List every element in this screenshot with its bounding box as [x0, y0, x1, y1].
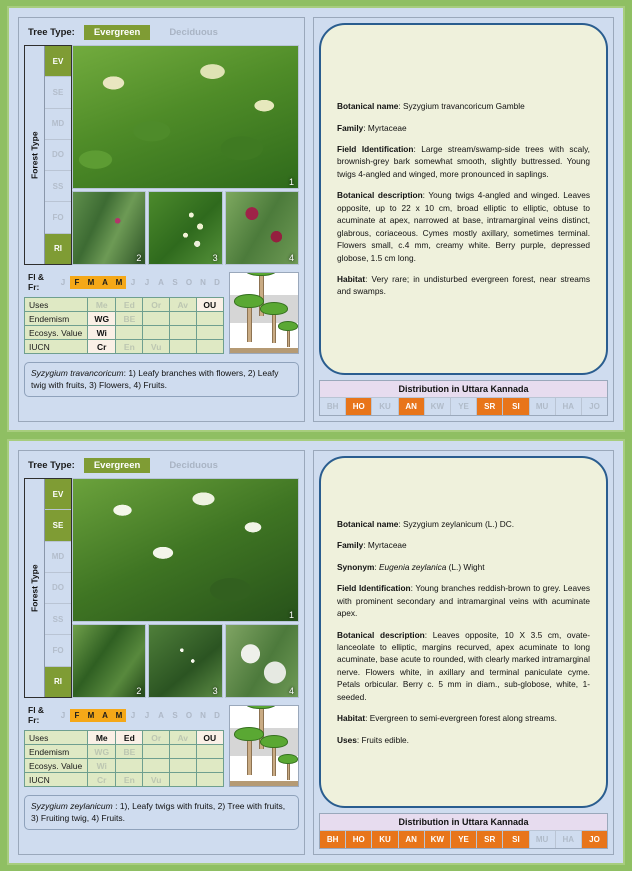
description-text: Young twigs 4-angled and winged. Leaves … [337, 190, 590, 262]
attribute-name: Uses [25, 731, 88, 745]
distribution-bh[interactable]: BH [320, 398, 346, 415]
description-text: Eugenia zeylanica (L.) Wight [379, 562, 485, 572]
synonym-binomial: Eugenia zeylanica [379, 562, 446, 572]
description-label: Botanical name [337, 519, 398, 529]
tree-type-option-evergreen[interactable]: Evergreen [84, 25, 150, 40]
attribute-name: Uses [25, 298, 88, 312]
media-column: Tree Type:EvergreenDeciduousForest TypeE… [18, 17, 305, 422]
attribute-value[interactable]: OU [196, 298, 223, 312]
tree-type-label: Tree Type: [28, 27, 75, 38]
attribute-value[interactable]: OU [196, 731, 223, 745]
attribute-value-empty [169, 312, 196, 326]
attribute-value[interactable]: BE [116, 745, 143, 759]
photo-3[interactable]: 3 [148, 191, 222, 265]
photo-number: 1 [289, 177, 294, 187]
tree-silhouette [278, 754, 298, 780]
attribute-value-empty [143, 759, 170, 773]
tree-height-profile [229, 705, 299, 787]
forest-type-codes: EVSEMDDOSSFORI [44, 46, 71, 264]
tree-type-option-deciduous[interactable]: Deciduous [159, 25, 228, 40]
distribution-mu[interactable]: MU [530, 398, 556, 415]
photo-number: 4 [289, 686, 294, 696]
attribute-value-empty [196, 340, 223, 354]
table-row: Ecosys. ValueWi [25, 326, 224, 340]
description-label: Habitat [337, 713, 365, 723]
distribution-an[interactable]: AN [399, 831, 425, 848]
forest-type-ri[interactable]: RI [45, 667, 71, 697]
attribute-value[interactable]: Wi [88, 326, 116, 340]
attribute-value-empty [143, 326, 170, 340]
month-cell[interactable]: D [210, 276, 224, 289]
photo-gallery: 1234 [72, 478, 299, 698]
attribute-value-empty [196, 773, 223, 787]
attribute-value[interactable]: Wi [88, 759, 116, 773]
attribute-value[interactable]: BE [116, 312, 143, 326]
description-box: Botanical name: Syzygium travancoricum G… [319, 23, 608, 375]
description-paragraph: Family: Myrtaceae [337, 539, 590, 551]
species-card-2: Tree Type:EvergreenDeciduousForest TypeE… [7, 439, 625, 865]
distribution-ku[interactable]: KU [372, 831, 398, 848]
distribution-ye[interactable]: YE [451, 831, 477, 848]
ground-line [230, 781, 298, 786]
phenology-row: Fl & Fr:JFMAMJJASOND [24, 705, 224, 725]
forest-type-fo[interactable]: FO [45, 202, 71, 233]
table-row: EndemismWGBE [25, 312, 224, 326]
photo-4[interactable]: 4 [225, 624, 299, 698]
forest-type-ev[interactable]: EV [45, 46, 71, 77]
distribution-box: Distribution in Uttara KannadaBHHOKUANKW… [319, 813, 608, 849]
description-label: Habitat [337, 274, 365, 284]
attribute-name: Ecosys. Value [25, 759, 88, 773]
forest-type-codes: EVSEMDDOSSFORI [44, 479, 71, 697]
month-cell[interactable]: S [168, 709, 182, 722]
month-cell[interactable]: D [210, 709, 224, 722]
phenology-label: Fl & Fr: [28, 705, 50, 725]
description-text: Myrtaceae [368, 540, 407, 550]
month-cell[interactable]: J [126, 276, 140, 289]
field-guide-page: Tree Type:EvergreenDeciduousForest TypeE… [0, 0, 632, 871]
distribution-title: Distribution in Uttara Kannada [320, 814, 607, 831]
distribution-ha[interactable]: HA [556, 831, 582, 848]
attribute-value-empty [169, 759, 196, 773]
photo-2[interactable]: 2 [72, 191, 146, 265]
distribution-codes: BHHOKUANKWYESRSIMUHAJO [320, 398, 607, 415]
forest-type-strip: Forest TypeEVSEMDDOSSFORI [24, 45, 72, 265]
month-cell[interactable]: J [140, 276, 154, 289]
photo-number: 4 [289, 253, 294, 263]
description-label: Botanical description [337, 630, 425, 640]
distribution-ye[interactable]: YE [451, 398, 477, 415]
tree-type-selector[interactable]: Tree Type:EvergreenDeciduous [24, 24, 299, 41]
attribute-value[interactable]: En [116, 773, 143, 787]
tree-type-label: Tree Type: [28, 460, 75, 471]
forest-type-do[interactable]: DO [45, 140, 71, 171]
table-row: IUCNCrEnVu [25, 340, 224, 354]
month-cell[interactable]: S [168, 276, 182, 289]
forest-type-fo[interactable]: FO [45, 635, 71, 666]
attribute-value[interactable]: Me [88, 298, 116, 312]
traits-section: Fl & Fr:JFMAMJJASONDUsesMeEdOrAvOUEndemi… [24, 272, 299, 354]
attribute-value-empty [116, 759, 143, 773]
description-label: Synonym [337, 562, 374, 572]
description-box: Botanical name: Syzygium zeylanicum (L.)… [319, 456, 608, 808]
description-text: Syzygium zeylanicum (L.) DC. [403, 519, 514, 529]
attribute-value-empty [143, 312, 170, 326]
ground-line [230, 348, 298, 353]
figure-caption: Syzygium zeylanicum : 1), Leafy twigs wi… [24, 795, 299, 830]
description-paragraph: Habitat: Very rare; in undisturbed everg… [337, 273, 590, 298]
figure-caption: Syzygium travancoricum: 1) Leafy branche… [24, 362, 299, 397]
photo-sub-row: 234 [72, 624, 299, 698]
forest-type-title: Forest Type [25, 479, 44, 697]
photo-sub-row: 234 [72, 191, 299, 265]
month-cell[interactable]: J [126, 709, 140, 722]
photo-number: 2 [136, 253, 141, 263]
month-cell[interactable]: J [140, 709, 154, 722]
photo-2[interactable]: 2 [72, 624, 146, 698]
description-paragraph: Uses: Fruits edible. [337, 734, 590, 746]
description-label: Botanical description [337, 190, 423, 200]
description-label: Field Identification [337, 144, 413, 154]
attribute-value[interactable]: Av [169, 731, 196, 745]
month-strip: JFMAMJJASOND [56, 709, 224, 722]
photo-number: 1 [289, 610, 294, 620]
month-cell[interactable]: N [196, 709, 210, 722]
table-row: UsesMeEdOrAvOU [25, 298, 224, 312]
tree-type-option-deciduous[interactable]: Deciduous [159, 458, 228, 473]
phenology-label: Fl & Fr: [28, 272, 50, 292]
traits-left: Fl & Fr:JFMAMJJASONDUsesMeEdOrAvOUEndemi… [24, 705, 224, 787]
phenology-row: Fl & Fr:JFMAMJJASOND [24, 272, 224, 292]
month-cell[interactable]: N [196, 276, 210, 289]
attribute-value[interactable]: Ed [116, 731, 143, 745]
month-cell[interactable]: A [98, 709, 112, 722]
description-text: Syzygium travancoricum Gamble [403, 101, 525, 111]
photo-1[interactable]: 1 [72, 45, 299, 189]
attribute-value[interactable]: Vu [143, 340, 170, 354]
attribute-name: Endemism [25, 312, 88, 326]
description-separator: : [425, 630, 433, 640]
month-cell[interactable]: A [154, 709, 168, 722]
photo-1[interactable]: 1 [72, 478, 299, 622]
month-cell[interactable]: O [182, 709, 196, 722]
attribute-name: Ecosys. Value [25, 326, 88, 340]
media-column: Tree Type:EvergreenDeciduousForest TypeE… [18, 450, 305, 855]
distribution-sr[interactable]: SR [477, 831, 503, 848]
description-paragraph: Botanical name: Syzygium zeylanicum (L.)… [337, 518, 590, 530]
description-paragraph: Botanical name: Syzygium travancoricum G… [337, 100, 590, 112]
distribution-ho[interactable]: HO [346, 398, 372, 415]
description-label: Botanical name [337, 101, 398, 111]
traits-section: Fl & Fr:JFMAMJJASONDUsesMeEdOrAvOUEndemi… [24, 705, 299, 787]
description-text: Myrtaceae [368, 123, 407, 133]
description-column: Botanical name: Syzygium travancoricum G… [313, 17, 614, 422]
attribute-value[interactable]: Vu [143, 773, 170, 787]
distribution-an[interactable]: AN [399, 398, 425, 415]
distribution-ku[interactable]: KU [372, 398, 398, 415]
attributes-table: UsesMeEdOrAvOUEndemismWGBEEcosys. ValueW… [24, 730, 224, 787]
forest-type-se[interactable]: SE [45, 77, 71, 108]
distribution-si[interactable]: SI [503, 398, 529, 415]
attribute-value[interactable]: Or [143, 731, 170, 745]
description-label: Field Identification [337, 583, 411, 593]
attributes-table: UsesMeEdOrAvOUEndemismWGBEEcosys. ValueW… [24, 297, 224, 354]
month-cell[interactable]: J [56, 709, 70, 722]
distribution-ho[interactable]: HO [346, 831, 372, 848]
description-text: Very rare; in undisturbed evergreen fore… [337, 274, 590, 296]
forest-type-ss[interactable]: SS [45, 604, 71, 635]
attribute-value[interactable]: Me [88, 731, 116, 745]
distribution-si[interactable]: SI [503, 831, 529, 848]
attribute-value[interactable]: Cr [88, 340, 116, 354]
distribution-title: Distribution in Uttara Kannada [320, 381, 607, 398]
month-cell[interactable]: M [112, 276, 126, 289]
photo-number: 3 [213, 253, 218, 263]
attribute-value[interactable]: En [116, 340, 143, 354]
attribute-value[interactable]: Ed [116, 298, 143, 312]
description-paragraph: Family: Myrtaceae [337, 122, 590, 134]
photo-4[interactable]: 4 [225, 191, 299, 265]
forest-type-do[interactable]: DO [45, 573, 71, 604]
month-cell[interactable]: M [84, 709, 98, 722]
attribute-value-empty [169, 340, 196, 354]
attribute-value[interactable]: Or [143, 298, 170, 312]
description-label: Family [337, 123, 363, 133]
tree-silhouette [278, 321, 298, 347]
attribute-value-empty [169, 773, 196, 787]
description-paragraph: Synonym: Eugenia zeylanica (L.) Wight [337, 561, 590, 573]
species-card-1: Tree Type:EvergreenDeciduousForest TypeE… [7, 6, 625, 432]
caption-binomial: Syzygium travancoricum [31, 368, 124, 378]
month-cell[interactable]: O [182, 276, 196, 289]
month-cell[interactable]: M [84, 276, 98, 289]
table-row: IUCNCrEnVu [25, 773, 224, 787]
attribute-value-empty [196, 312, 223, 326]
attribute-value-empty [196, 326, 223, 340]
table-row: Ecosys. ValueWi [25, 759, 224, 773]
attribute-value[interactable]: Av [169, 298, 196, 312]
photo-number: 3 [213, 686, 218, 696]
media-row: Forest TypeEVSEMDDOSSFORI1234 [24, 478, 299, 698]
forest-type-title: Forest Type [25, 46, 44, 264]
attribute-value[interactable]: WG [88, 745, 116, 759]
description-text: Evergreen to semi-evergreen forest along… [370, 713, 557, 723]
distribution-kw[interactable]: KW [425, 398, 451, 415]
month-cell[interactable]: A [154, 276, 168, 289]
forest-type-strip: Forest TypeEVSEMDDOSSFORI [24, 478, 72, 698]
photo-number: 2 [136, 686, 141, 696]
distribution-jo[interactable]: JO [582, 831, 607, 848]
tree-type-selector[interactable]: Tree Type:EvergreenDeciduous [24, 457, 299, 474]
month-cell[interactable]: F [70, 709, 84, 722]
description-paragraph: Field Identification: Large stream/swamp… [337, 143, 590, 180]
distribution-box: Distribution in Uttara KannadaBHHOKUANKW… [319, 380, 608, 416]
photo-gallery: 1234 [72, 45, 299, 265]
distribution-mu[interactable]: MU [530, 831, 556, 848]
description-paragraph: Botanical description: Leaves opposite, … [337, 629, 590, 704]
attribute-value-empty [116, 326, 143, 340]
attribute-name: IUCN [25, 773, 88, 787]
distribution-sr[interactable]: SR [477, 398, 503, 415]
attribute-value-empty [169, 326, 196, 340]
month-cell[interactable]: M [112, 709, 126, 722]
description-text: Leaves opposite, 10 X 3.5 cm, ovate-lanc… [337, 630, 590, 702]
month-cell[interactable]: F [70, 276, 84, 289]
description-text: Fruits edible. [361, 735, 409, 745]
forest-type-ev[interactable]: EV [45, 479, 71, 510]
month-strip: JFMAMJJASOND [56, 276, 224, 289]
distribution-kw[interactable]: KW [425, 831, 451, 848]
attribute-name: Endemism [25, 745, 88, 759]
month-cell[interactable]: A [98, 276, 112, 289]
distribution-ha[interactable]: HA [556, 398, 582, 415]
distribution-jo[interactable]: JO [582, 398, 607, 415]
table-row: UsesMeEdOrAvOU [25, 731, 224, 745]
distribution-bh[interactable]: BH [320, 831, 346, 848]
attribute-value-empty [196, 759, 223, 773]
description-paragraph: Botanical description: Young twigs 4-ang… [337, 189, 590, 264]
attribute-value[interactable]: WG [88, 312, 116, 326]
distribution-codes: BHHOKUANKWYESRSIMUHAJO [320, 831, 607, 848]
forest-type-ri[interactable]: RI [45, 234, 71, 264]
forest-type-md[interactable]: MD [45, 542, 71, 573]
media-row: Forest TypeEVSEMDDOSSFORI1234 [24, 45, 299, 265]
description-paragraph: Habitat: Evergreen to semi-evergreen for… [337, 712, 590, 724]
table-row: EndemismWGBE [25, 745, 224, 759]
attribute-value-empty [143, 745, 170, 759]
forest-type-se[interactable]: SE [45, 510, 71, 541]
forest-type-md[interactable]: MD [45, 109, 71, 140]
photo-3[interactable]: 3 [148, 624, 222, 698]
description-column: Botanical name: Syzygium zeylanicum (L.)… [313, 450, 614, 855]
attribute-value-empty [196, 745, 223, 759]
attribute-value[interactable]: Cr [88, 773, 116, 787]
description-paragraph: Field Identification: Young branches red… [337, 582, 590, 619]
attribute-value-empty [169, 745, 196, 759]
description-label: Uses [337, 735, 357, 745]
tree-type-option-evergreen[interactable]: Evergreen [84, 458, 150, 473]
attribute-name: IUCN [25, 340, 88, 354]
caption-binomial: Syzygium zeylanicum [31, 801, 113, 811]
tree-height-profile [229, 272, 299, 354]
month-cell[interactable]: J [56, 276, 70, 289]
traits-left: Fl & Fr:JFMAMJJASONDUsesMeEdOrAvOUEndemi… [24, 272, 224, 354]
description-label: Family [337, 540, 363, 550]
forest-type-ss[interactable]: SS [45, 171, 71, 202]
